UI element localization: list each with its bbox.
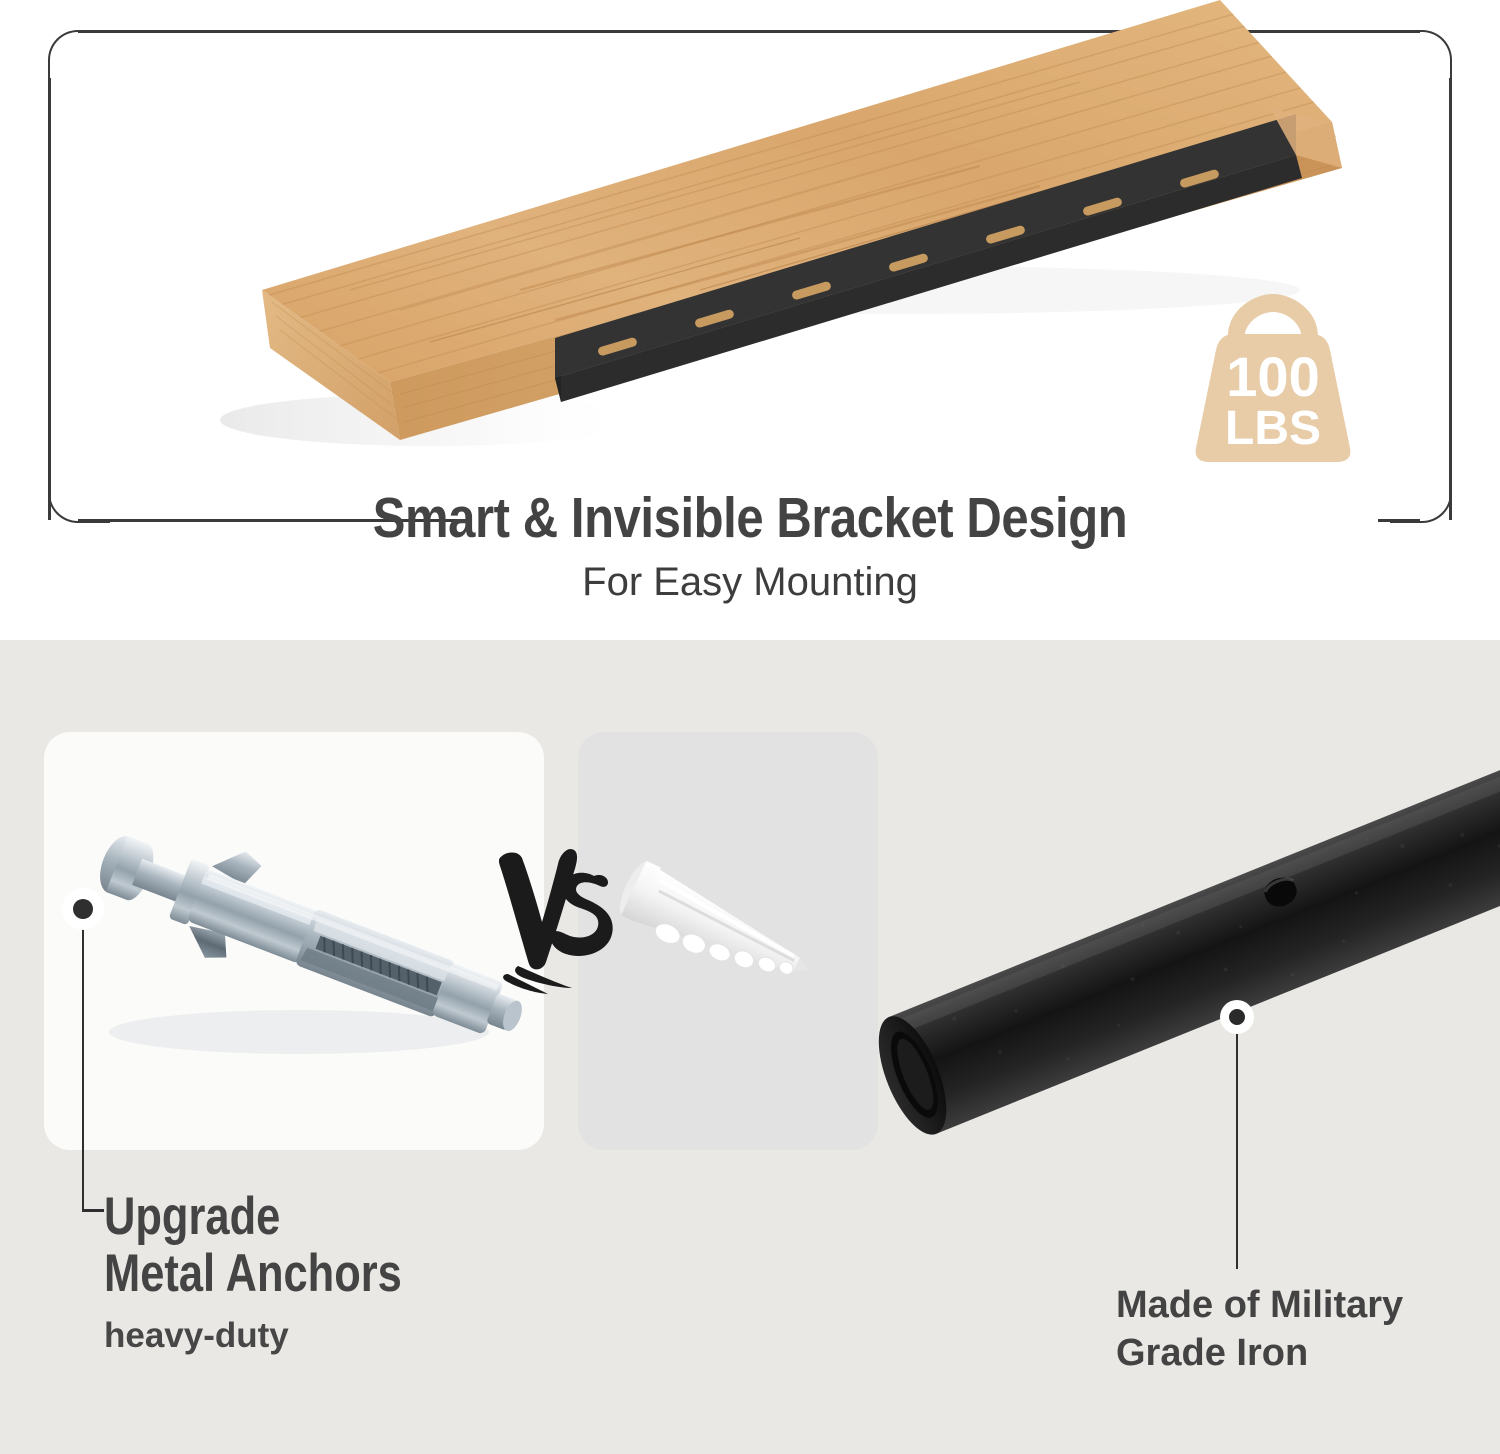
metal-anchor-caption-line2: Metal Anchors — [104, 1245, 402, 1302]
metal-anchor-card — [44, 732, 544, 1150]
iron-rod-caption-line1: Made of Military — [1116, 1281, 1403, 1329]
frame-edge-right — [1449, 78, 1452, 520]
metal-anchor-caption-sub: heavy-duty — [104, 1318, 467, 1353]
iron-rod-callout-dot — [1220, 1000, 1254, 1034]
frame-corner-bottom-right — [1390, 461, 1452, 523]
metal-anchor-leader-line-vertical — [82, 908, 85, 1211]
metal-anchor-leader-line-horizontal — [82, 1209, 104, 1212]
iron-rod-image — [840, 700, 1500, 1280]
weight-unit: LBS — [1225, 402, 1321, 455]
vs-brushstroke — [488, 838, 628, 998]
metal-anchor-caption-line1: Upgrade — [104, 1188, 402, 1245]
metal-molly-bolt-anchor-icon — [44, 732, 544, 1150]
weight-icon: 100 LBS — [1178, 288, 1368, 466]
frame-edge-left — [48, 78, 51, 520]
frame-corner-top-right — [1390, 30, 1452, 92]
vs-icon — [488, 838, 628, 998]
top-section: 100 LBS Smart & Invisible Bracket Design… — [0, 0, 1500, 640]
iron-rod-leader-line — [1236, 1014, 1239, 1269]
metal-anchor-caption: Upgrade Metal Anchors heavy-duty — [104, 1188, 467, 1353]
iron-rod-caption: Made of Military Grade Iron — [1116, 1281, 1403, 1378]
frame-corner-bottom-left — [48, 461, 110, 523]
weight-capacity-badge: 100 LBS — [1178, 288, 1368, 466]
black-iron-rod-icon — [840, 700, 1500, 1280]
iron-rod-caption-line2: Grade Iron — [1116, 1329, 1403, 1377]
product-infographic: 100 LBS Smart & Invisible Bracket Design… — [0, 0, 1500, 1454]
metal-anchor-callout-dot — [62, 888, 104, 930]
main-title: Smart & Invisible Bracket Design — [105, 490, 1395, 547]
sub-title: For Easy Mounting — [0, 562, 1500, 602]
weight-value: 100 — [1226, 345, 1319, 408]
